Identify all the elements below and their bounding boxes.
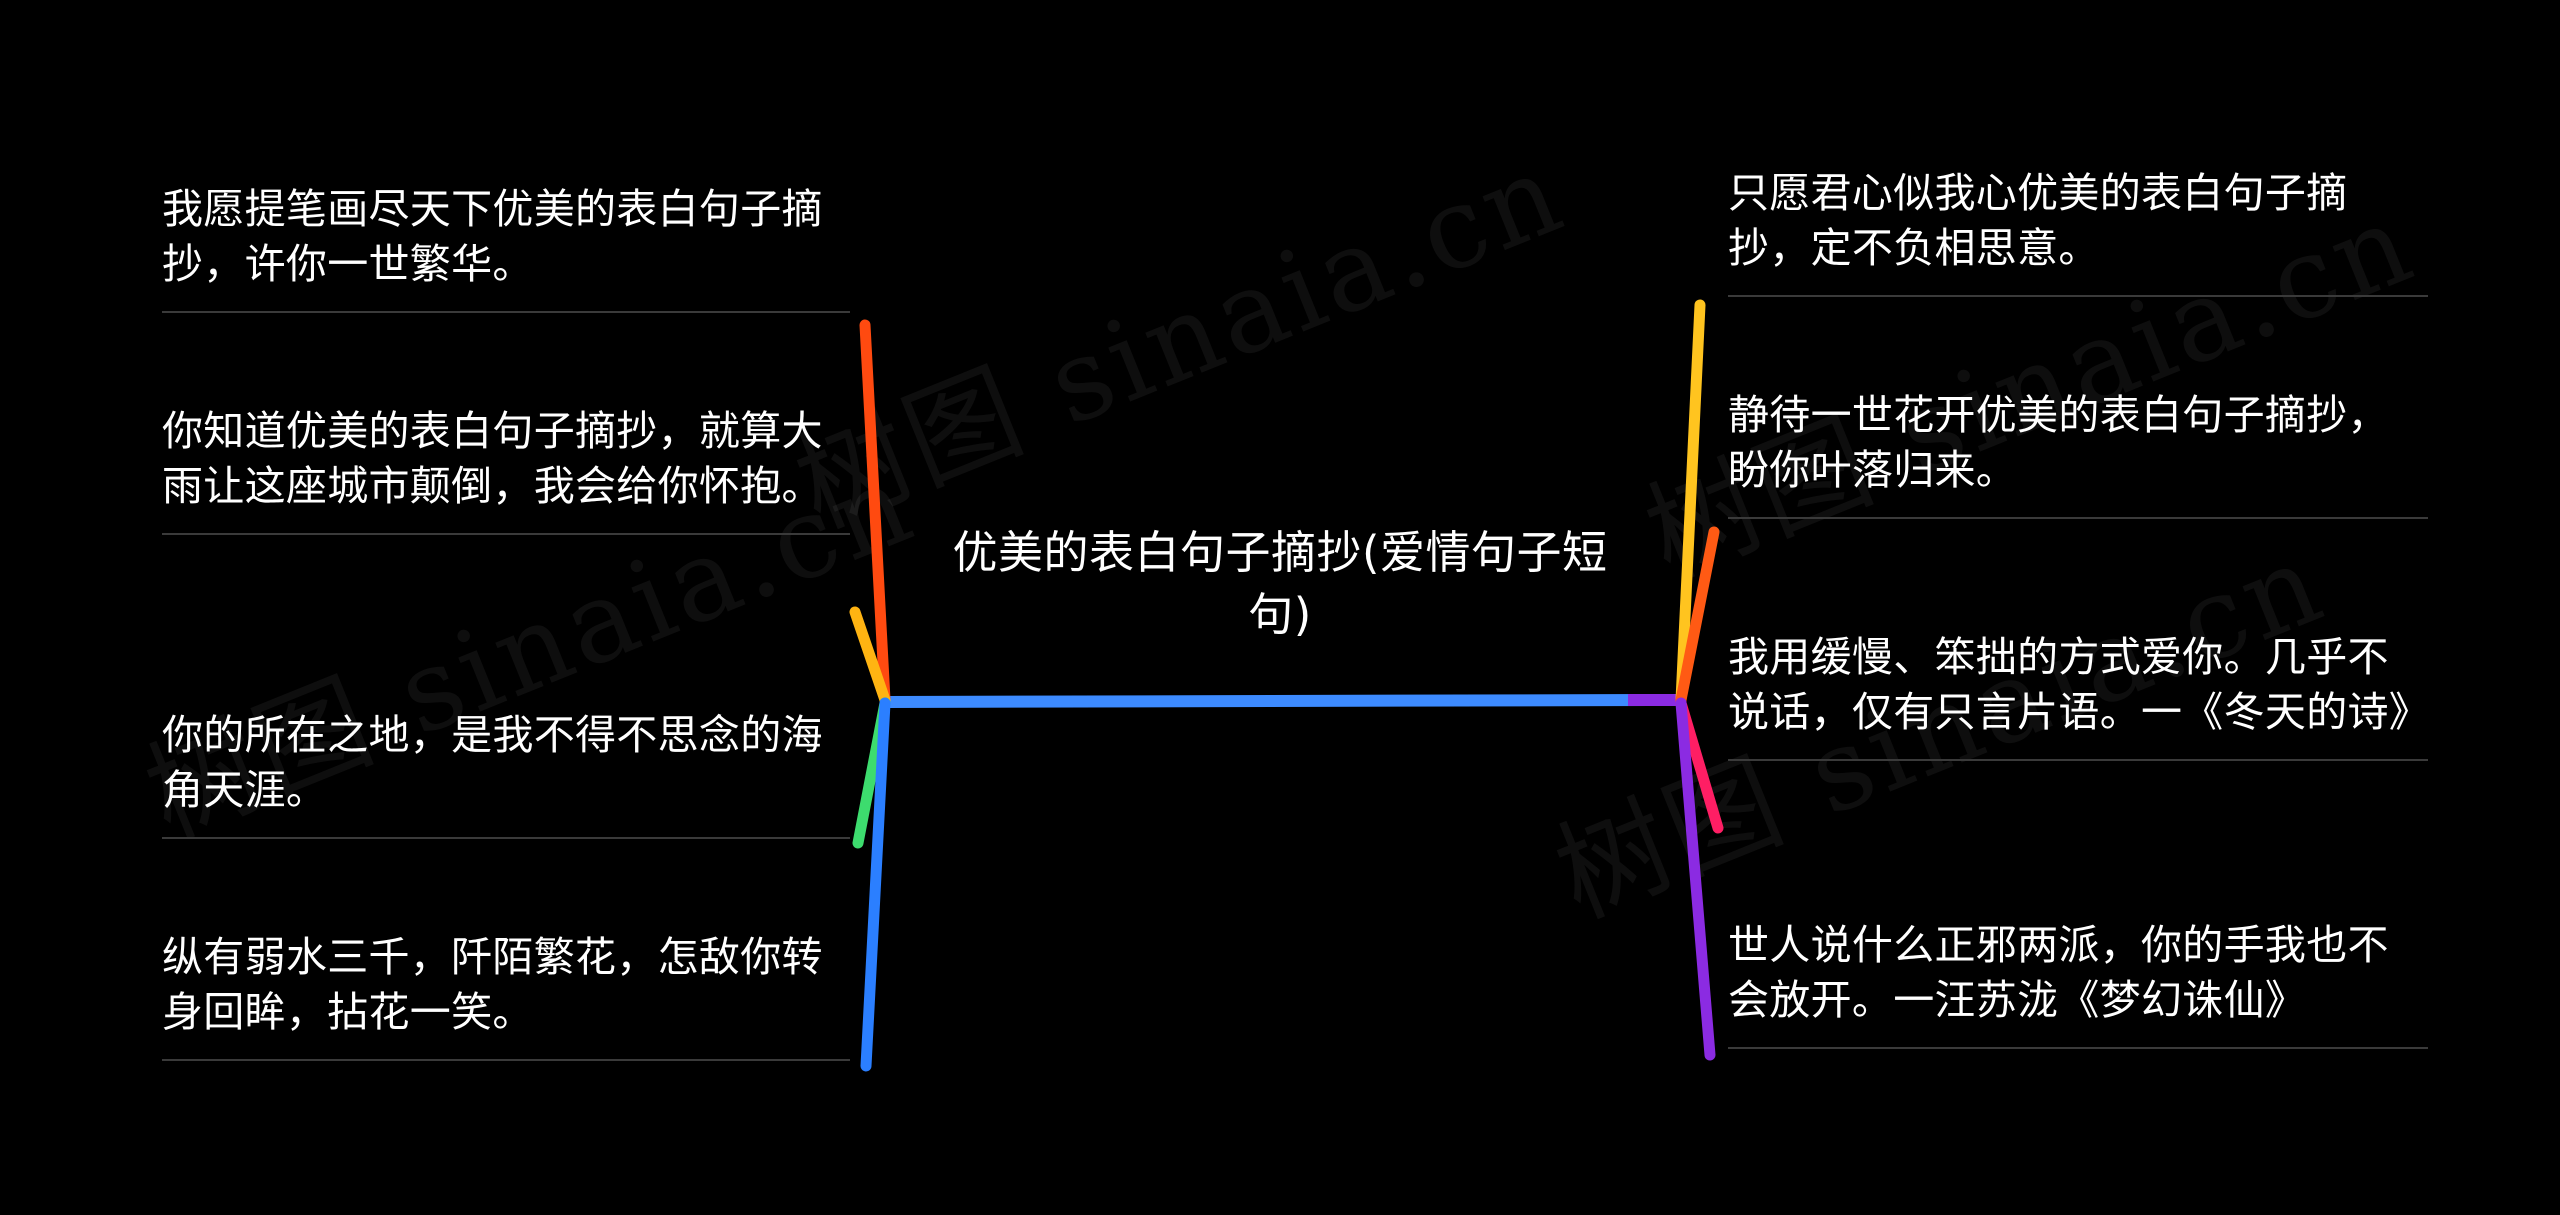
branch-line-left-3 xyxy=(858,703,885,843)
topic-left-4[interactable]: 纵有弱水三千，阡陌繁花，怎敌你转身回眸，拈花一笑。 xyxy=(162,930,862,1039)
topic-left-3-label: 你的所在之地，是我不得不思念的海角天涯。 xyxy=(162,711,823,814)
topic-underline xyxy=(162,1059,850,1061)
topic-right-1[interactable]: 只愿君心似我心优美的表白句子摘抄，定不负相思意。 xyxy=(1728,166,2428,275)
branch-line-right-1 xyxy=(1681,305,1700,700)
root-topic[interactable]: 优美的表白句子摘抄(爱情句子短句) xyxy=(930,522,1630,646)
branch-line-right-4 xyxy=(1681,703,1710,1055)
topic-right-2[interactable]: 静待一世花开优美的表白句子摘抄，盼你叶落归来。 xyxy=(1728,388,2428,497)
topic-right-1-label: 只愿君心似我心优美的表白句子摘抄，定不负相思意。 xyxy=(1728,169,2348,272)
branch-line-left-2 xyxy=(855,612,885,700)
topic-left-3[interactable]: 你的所在之地，是我不得不思念的海角天涯。 xyxy=(162,708,862,817)
branch-line-right-3 xyxy=(1681,703,1718,828)
topic-right-2-label: 静待一世花开优美的表白句子摘抄，盼你叶落归来。 xyxy=(1728,391,2389,494)
topic-underline xyxy=(162,533,850,535)
branch-line-left-4 xyxy=(866,703,885,1066)
topic-left-2-label: 你知道优美的表白句子摘抄，就算大雨让这座城市颠倒，我会给你怀抱。 xyxy=(162,407,823,510)
topic-left-2[interactable]: 你知道优美的表白句子摘抄，就算大雨让这座城市颠倒，我会给你怀抱。 xyxy=(162,404,862,513)
topic-right-4[interactable]: 世人说什么正邪两派，你的手我也不会放开。一汪苏泷《梦幻诛仙》 xyxy=(1728,918,2428,1027)
branch-line-right-2 xyxy=(1681,532,1714,700)
topic-underline xyxy=(162,837,850,839)
topic-left-4-label: 纵有弱水三千，阡陌繁花，怎敌你转身回眸，拈花一笑。 xyxy=(162,933,823,1036)
branch-line-left-1 xyxy=(865,325,885,700)
topic-right-3[interactable]: 我用缓慢、笨拙的方式爱你。几乎不说话，仅有只言片语。一《冬天的诗》 xyxy=(1728,630,2428,739)
topic-underline xyxy=(1728,295,2428,297)
watermark-text: 树图 sinaia.cn xyxy=(769,104,1583,559)
trunk-line-left xyxy=(889,700,1650,702)
topic-underline xyxy=(162,311,850,313)
topic-right-3-label: 我用缓慢、笨拙的方式爱你。几乎不说话，仅有只言片语。一《冬天的诗》 xyxy=(1728,633,2430,736)
topic-left-1[interactable]: 我愿提笔画尽天下优美的表白句子摘抄，许你一世繁华。 xyxy=(162,182,862,291)
topic-underline xyxy=(1728,759,2428,761)
topic-underline xyxy=(1728,1047,2428,1049)
topic-left-1-label: 我愿提笔画尽天下优美的表白句子摘抄，许你一世繁华。 xyxy=(162,185,823,288)
mindmap-canvas: 树图 sinaia.cn 树图 sinaia.cn 树图 sinaia.cn 树… xyxy=(0,0,2560,1215)
topic-underline xyxy=(1728,517,2428,519)
topic-right-4-label: 世人说什么正邪两派，你的手我也不会放开。一汪苏泷《梦幻诛仙》 xyxy=(1728,921,2389,1024)
root-topic-label: 优美的表白句子摘抄(爱情句子短句) xyxy=(952,526,1607,641)
